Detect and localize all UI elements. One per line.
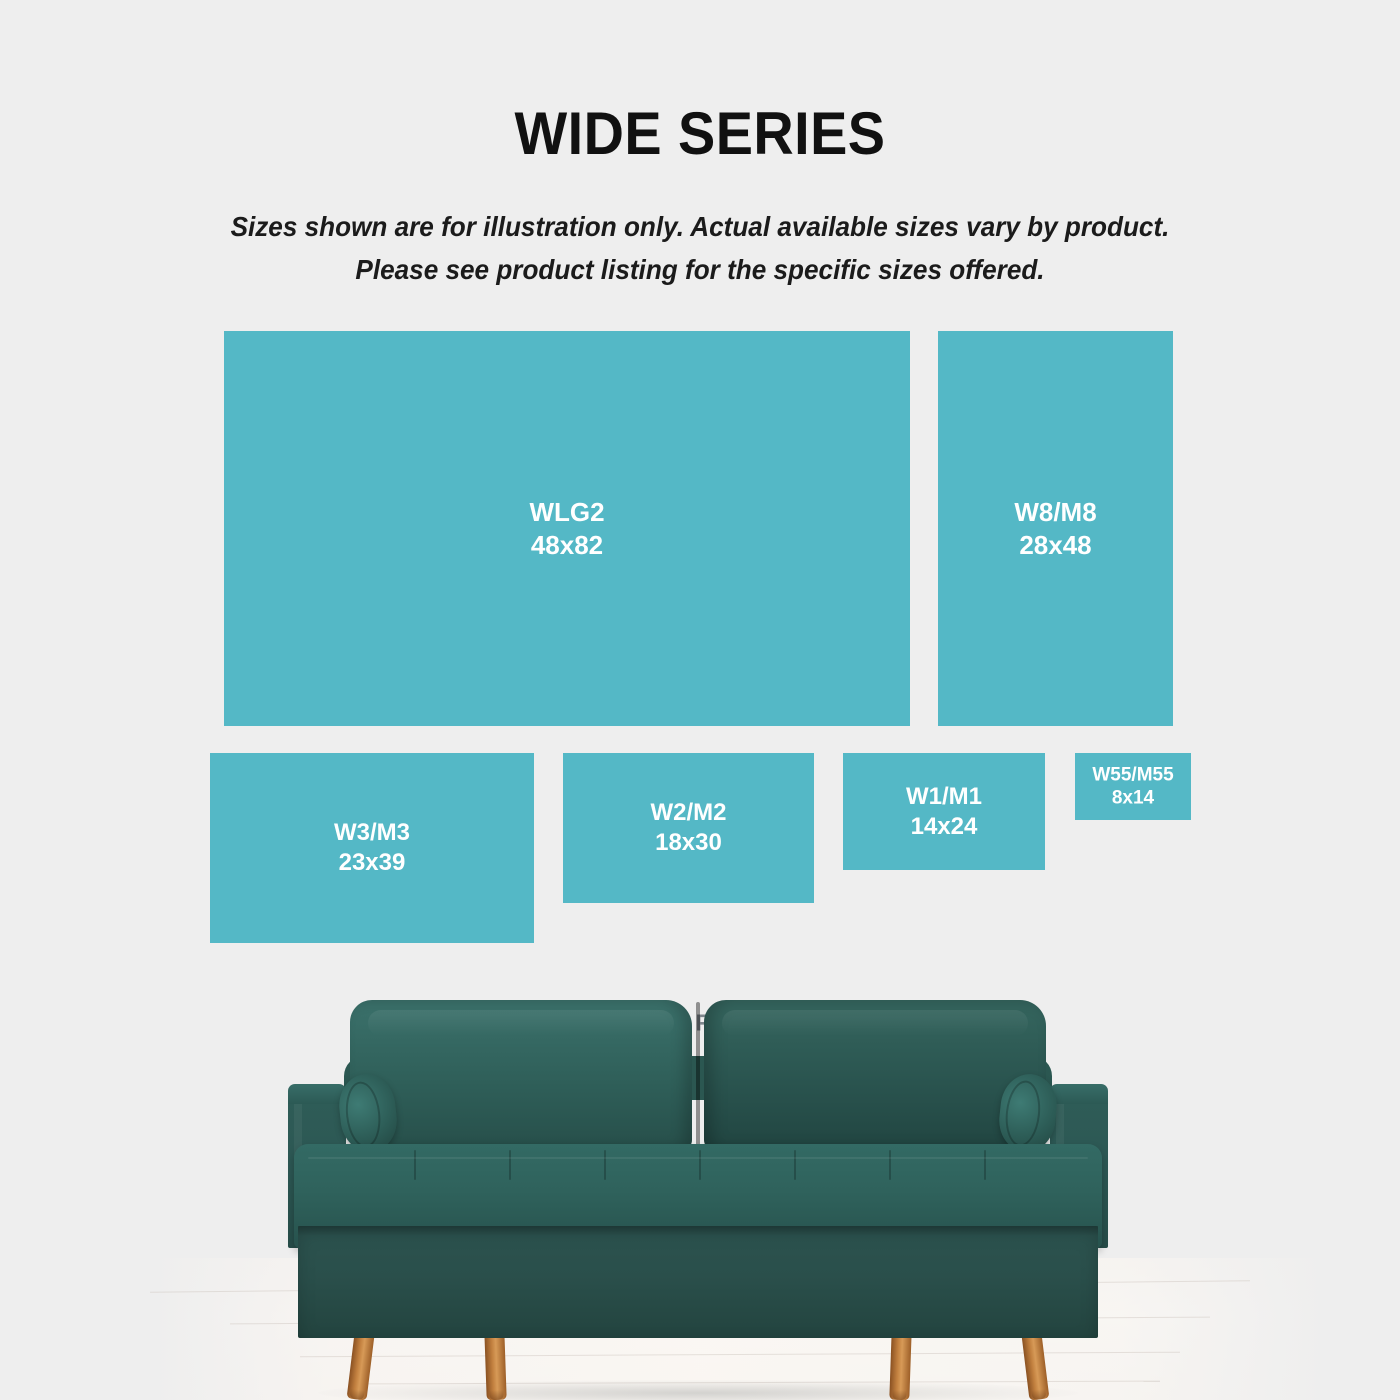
swatch-code: WLG2	[529, 496, 604, 528]
size-swatch-w8-m8: W8/M828x48	[938, 331, 1173, 726]
swatch-label: W1/M114x24	[906, 782, 982, 842]
size-swatch-w2-m2: W2/M218x30	[563, 753, 814, 903]
size-swatch-w3-m3: W3/M323x39	[210, 753, 534, 943]
swatch-label: WLG248x82	[529, 496, 604, 560]
swatch-code: W55/M55	[1092, 763, 1173, 787]
swatch-code: W3/M3	[334, 818, 410, 848]
swatch-dimensions: 14x24	[906, 812, 982, 842]
swatch-code: W8/M8	[1014, 496, 1096, 528]
subtitle-line-1: Sizes shown are for illustration only. A…	[35, 205, 1365, 248]
sofa-back-seam	[696, 1002, 700, 1148]
swatch-label: W55/M558x14	[1092, 763, 1173, 810]
swatch-label: W8/M828x48	[1014, 496, 1096, 560]
swatch-label: W3/M323x39	[334, 818, 410, 878]
sofa-back-cushion	[704, 1000, 1046, 1150]
swatch-dimensions: 18x30	[650, 828, 726, 858]
size-guide-infographic: WIDE SERIES Sizes shown are for illustra…	[0, 0, 1400, 1400]
size-swatch-w55-m55: W55/M558x14	[1075, 753, 1191, 820]
page-title: WIDE SERIES	[49, 99, 1351, 168]
sofa-base	[298, 1226, 1098, 1338]
page-subtitle: Sizes shown are for illustration only. A…	[35, 205, 1365, 291]
subtitle-line-2: Please see product listing for the speci…	[35, 248, 1365, 291]
swatch-dimensions: 48x82	[529, 529, 604, 561]
swatch-dimensions: 28x48	[1014, 529, 1096, 561]
size-swatch-wlg2: WLG248x82	[224, 331, 910, 726]
sofa-shadow	[318, 1380, 1078, 1400]
swatch-dimensions: 23x39	[334, 848, 410, 878]
sofa	[288, 1055, 1108, 1400]
swatch-code: W1/M1	[906, 782, 982, 812]
sofa-arm-top	[288, 1084, 346, 1104]
size-swatch-w1-m1: W1/M114x24	[843, 753, 1045, 870]
sofa-arm-top	[1050, 1084, 1108, 1104]
sofa-back-cushion	[350, 1000, 692, 1150]
swatch-dimensions: 8x14	[1092, 787, 1173, 811]
swatch-label: W2/M218x30	[650, 798, 726, 858]
swatch-code: W2/M2	[650, 798, 726, 828]
